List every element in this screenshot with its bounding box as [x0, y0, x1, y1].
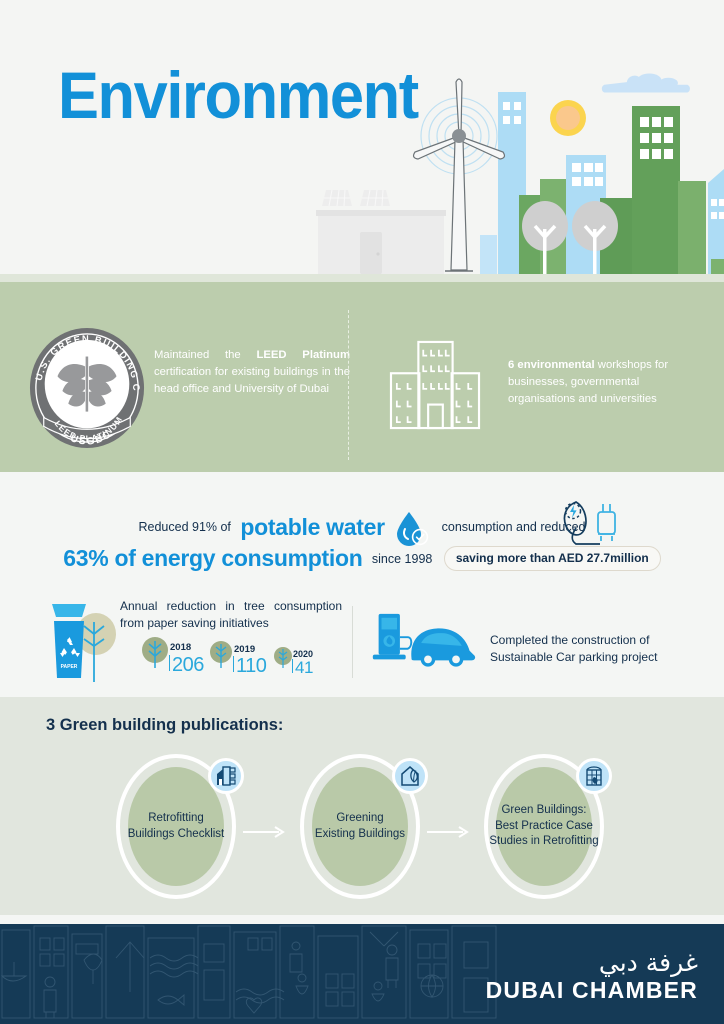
city-skyline-icon: [480, 59, 724, 274]
hero-section: Environment: [0, 0, 724, 282]
green-building-icon: [576, 758, 612, 794]
parking-text: Completed the construction of Sustainabl…: [490, 632, 690, 666]
tree-icon: [208, 641, 234, 669]
publication-item[interactable]: Retrofitting Buildings Checklist: [116, 754, 236, 899]
water-highlight-label: potable water: [240, 514, 384, 540]
certification-text-pre: Maintained the: [154, 349, 256, 361]
logo-english: DUBAI CHAMBER: [482, 977, 698, 1004]
publication-label-line: Green Buildings:: [501, 803, 586, 819]
publication-label-line: Buildings Checklist: [128, 827, 225, 843]
energy-line: 63% of energy consumption since 1998 sav…: [0, 545, 724, 572]
year-label: 2019: [234, 644, 255, 655]
arrow-right-icon: [427, 826, 471, 838]
energy-leaf-plug-icon: [556, 498, 618, 546]
wind-turbine-icon: [411, 74, 507, 274]
resources-divider: [352, 606, 353, 678]
publication-label-line: Existing Buildings: [315, 827, 405, 843]
paper-heading: Annual reduction in tree consumption fro…: [120, 598, 342, 632]
publication-label-line: Studies in Retrofitting: [489, 834, 598, 850]
year-value: 41: [295, 659, 313, 676]
water-droplet-check-icon: [393, 510, 433, 544]
workshops-text: 6 environmental workshops for businesses…: [508, 357, 698, 408]
year-value: 206: [172, 655, 204, 675]
certification-text: Maintained the LEED Platinum certificati…: [154, 347, 350, 398]
tree-reduction-years: 2018 206 2019 110: [140, 637, 340, 679]
certification-text-post: certification for existing buildings in …: [154, 366, 350, 395]
publications-title: 3 Green building publications:: [46, 716, 283, 735]
tree-icon: [273, 647, 293, 669]
publication-item[interactable]: Greening Existing Buildings: [300, 754, 420, 899]
house-leaf-icon: [392, 758, 428, 794]
building-checklist-icon: [208, 758, 244, 794]
dubai-heritage-pattern: [0, 924, 500, 1024]
page-title: Environment: [58, 62, 418, 128]
infographic-page: Environment U.S. GREEN BUILDING COUNCIL: [0, 0, 724, 1024]
energy-since-label: since 1998: [372, 552, 432, 566]
usgbc-leed-platinum-badge: U.S. GREEN BUILDING COUNCIL LEED PLATINU…: [28, 327, 146, 449]
publication-label-line: Best Practice Case: [495, 819, 593, 835]
publication-item[interactable]: Green Buildings: Best Practice Case Stud…: [484, 754, 604, 899]
logo-arabic: غرفة دبي: [482, 950, 698, 976]
publication-label-line: Retrofitting: [148, 811, 204, 827]
water-pre-label: Reduced 91% of: [138, 520, 230, 534]
workshops-text-bold: 6 environmental: [508, 359, 595, 371]
footer: غرفة دبي DUBAI CHAMBER: [0, 924, 724, 1024]
year-label: 2018: [170, 642, 191, 653]
ground-strip: [0, 274, 724, 282]
publication-label-line: Greening: [336, 811, 383, 827]
savings-badge: saving more than AED 27.7million: [444, 546, 661, 571]
section-divider: [348, 310, 349, 460]
energy-highlight-label: 63% of energy consumption: [63, 545, 362, 571]
arrow-right-icon: [243, 826, 287, 838]
office-building-icon: [385, 340, 485, 430]
tree-icon: [140, 637, 170, 669]
paper-recycling-bin-icon: PAPER: [46, 600, 118, 684]
dubai-chamber-logo: غرفة دبي DUBAI CHAMBER: [482, 950, 698, 1004]
svg-text:PAPER: PAPER: [61, 664, 78, 670]
year-value: 110: [236, 656, 266, 676]
certification-text-bold: LEED Platinum: [256, 349, 350, 361]
ev-charging-car-icon: [372, 612, 482, 672]
